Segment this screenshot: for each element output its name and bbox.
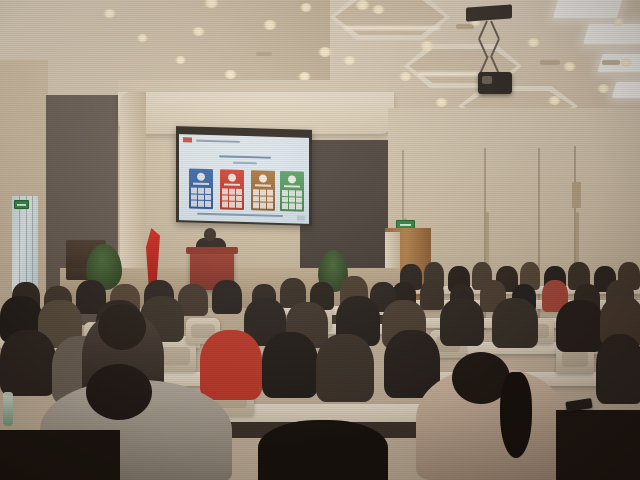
audience-hair bbox=[500, 372, 532, 458]
slide-title-text bbox=[219, 155, 271, 158]
foreground-shadow bbox=[0, 430, 120, 480]
audience-member bbox=[556, 300, 604, 352]
audience-head bbox=[86, 364, 152, 420]
downlight bbox=[263, 20, 277, 30]
downlight bbox=[343, 56, 356, 65]
downlight bbox=[175, 56, 186, 64]
downlight bbox=[597, 84, 610, 93]
slide-card bbox=[280, 171, 304, 212]
downlight bbox=[548, 96, 561, 105]
audience-member bbox=[420, 280, 444, 310]
downlight bbox=[420, 41, 434, 51]
foreground-shadow bbox=[556, 410, 640, 480]
presenter-head bbox=[204, 228, 216, 241]
downlight bbox=[613, 18, 624, 26]
downlight bbox=[137, 34, 148, 42]
downlight bbox=[399, 72, 412, 81]
slide-card bbox=[251, 170, 275, 211]
ceiling-projector bbox=[478, 72, 512, 94]
audience-member bbox=[440, 298, 484, 346]
audience-head bbox=[98, 304, 146, 350]
downlight bbox=[318, 47, 332, 57]
slide-logo-icon bbox=[183, 137, 192, 142]
audience-member bbox=[200, 330, 262, 400]
downlight bbox=[620, 58, 632, 67]
skylight bbox=[612, 82, 640, 98]
ceiling-vent bbox=[256, 52, 272, 56]
downlight bbox=[527, 38, 540, 47]
downlight bbox=[300, 3, 312, 12]
partition-plate bbox=[572, 182, 581, 208]
exit-sign bbox=[14, 200, 29, 209]
downlight bbox=[435, 98, 448, 107]
downlight bbox=[355, 0, 370, 10]
audience-member-foreground bbox=[258, 420, 388, 480]
projection-screen bbox=[179, 134, 309, 224]
audience-member bbox=[596, 334, 640, 404]
slide-corner-mark bbox=[297, 215, 305, 220]
audience-member bbox=[262, 332, 318, 398]
photo-scene bbox=[0, 0, 640, 480]
downlight bbox=[103, 9, 116, 18]
slide-header-text bbox=[196, 140, 240, 143]
slide-footer-text bbox=[197, 213, 283, 217]
downlight bbox=[192, 27, 205, 36]
audience-member bbox=[212, 280, 242, 314]
scissor-lift-icon bbox=[480, 18, 506, 74]
audience-member bbox=[316, 334, 374, 402]
hex-coffer bbox=[330, 0, 450, 40]
downlight bbox=[372, 5, 385, 14]
lecture-hall bbox=[0, 0, 640, 480]
slide-card bbox=[220, 169, 244, 210]
downlight bbox=[563, 62, 576, 71]
ceiling-vent bbox=[602, 60, 620, 65]
ceiling-vent bbox=[540, 60, 560, 65]
skylight bbox=[553, 0, 623, 18]
water-bottle bbox=[3, 392, 13, 426]
audience-member bbox=[0, 330, 56, 396]
slide-card bbox=[189, 168, 213, 209]
cove-light bbox=[344, 26, 440, 30]
slide-subtitle-text bbox=[233, 162, 257, 164]
audience-member bbox=[492, 298, 538, 348]
skylight bbox=[583, 24, 640, 44]
downlight bbox=[224, 70, 237, 79]
